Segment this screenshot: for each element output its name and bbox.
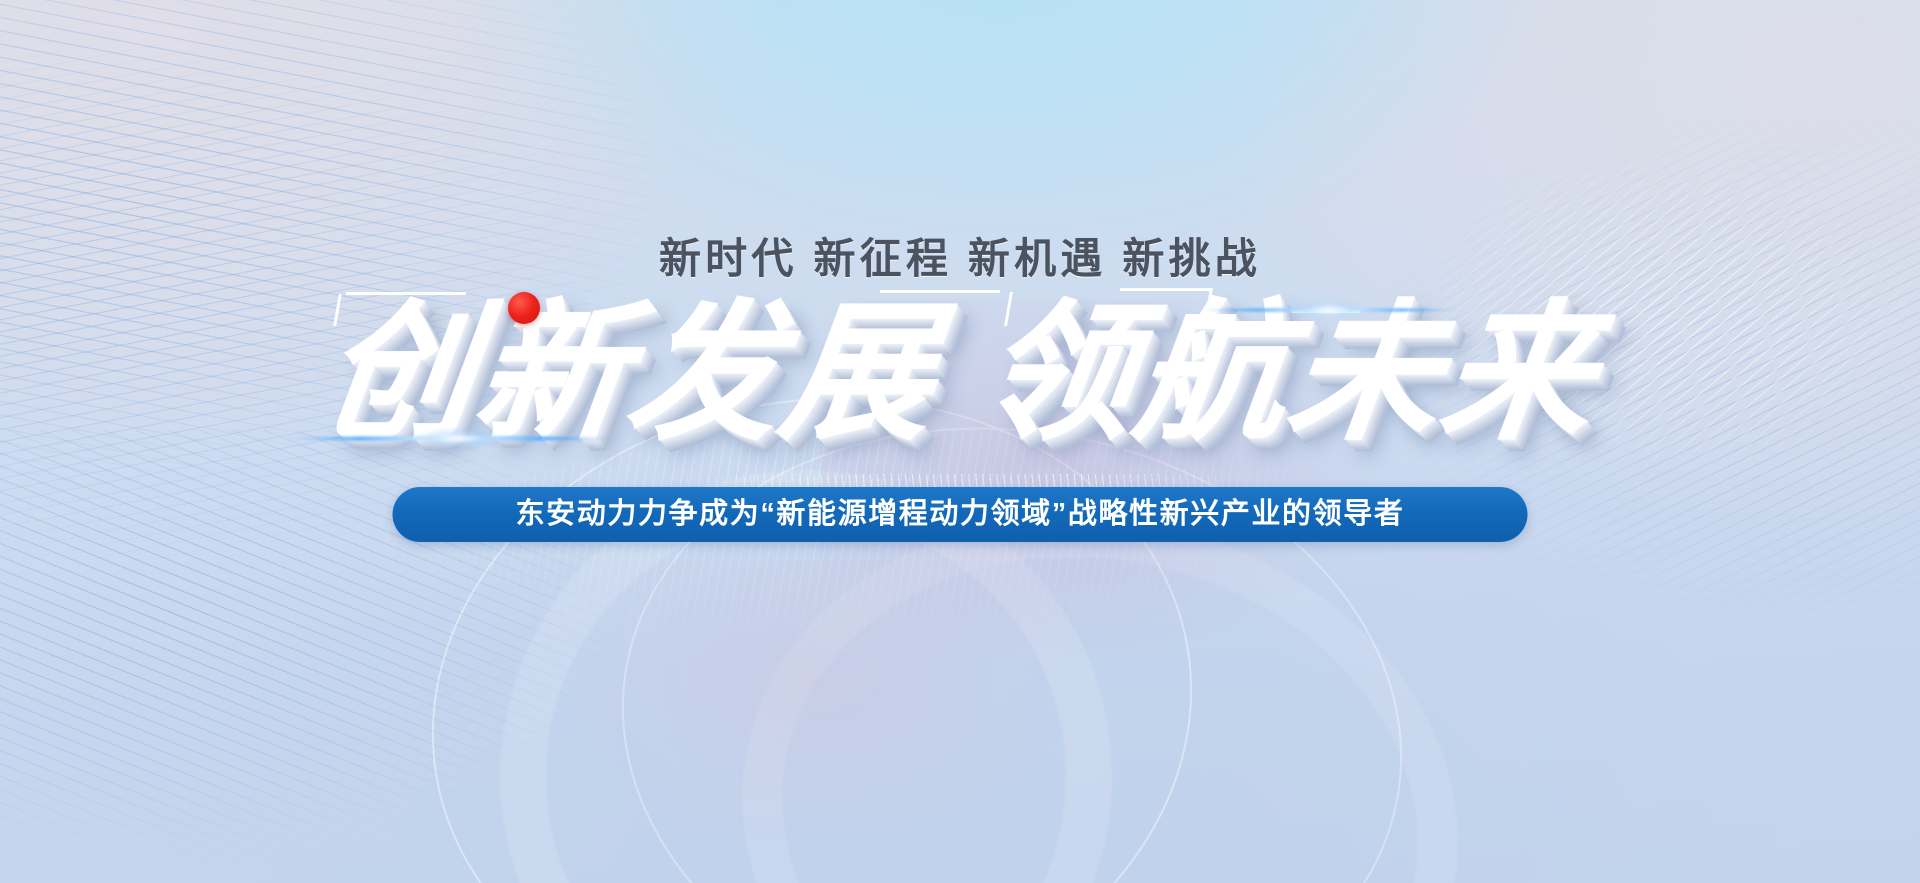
slogan-text: 东安动力力争成为“新能源增程动力领域”战略性新兴产业的领导者 (516, 500, 1405, 529)
banner-title-right: 领航未来 (974, 289, 1607, 457)
light-streak-top-icon (1200, 308, 1460, 312)
slogan-pill: 东安动力力争成为“新能源增程动力领域”战略性新兴产业的领导者 (393, 487, 1528, 542)
banner-eyebrow-text: 新时代 新征程 新机遇 新挑战 (0, 225, 1920, 286)
red-dot-icon (508, 292, 540, 324)
banner-content: 新时代 新征程 新机遇 新挑战 创新发展领航未来 东安动力力争成为“新能源增程动… (0, 0, 1920, 883)
banner-title-left: 创新发展 (314, 289, 947, 457)
banner-title: 创新发展领航未来 (315, 298, 1605, 448)
light-streak-left-icon (286, 436, 616, 441)
promotional-banner: 新时代 新征程 新机遇 新挑战 创新发展领航未来 东安动力力争成为“新能源增程动… (0, 0, 1920, 883)
banner-title-wrap: 创新发展领航未来 (0, 278, 1920, 468)
